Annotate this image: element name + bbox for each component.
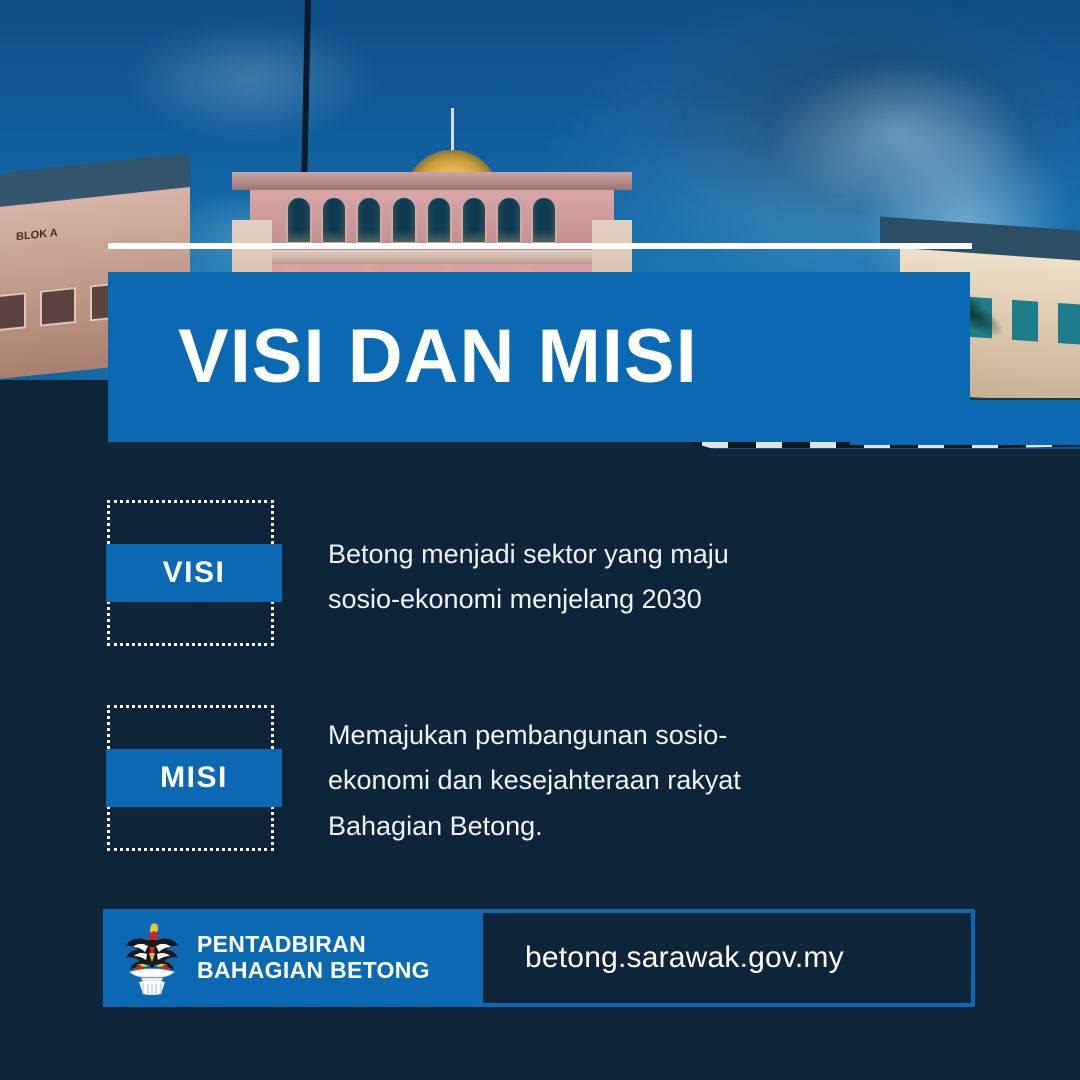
misi-text: Memajukan pembangunan sosio- ekonomi dan… (328, 713, 741, 849)
page-title: VISI DAN MISI (178, 319, 698, 395)
section-misi: MISI Memajukan pembangunan sosio- ekonom… (107, 705, 741, 851)
footer-organization-name: PENTADBIRAN BAHAGIAN BETONG (197, 932, 430, 984)
footer-brand: PENTADBIRAN BAHAGIAN BETONG (107, 913, 483, 1003)
sarawak-coat-of-arms-icon (121, 920, 183, 996)
background-photo: BLOK A (0, 0, 1080, 520)
arch-window (391, 196, 417, 244)
misi-tag-label: MISI (106, 749, 282, 807)
arch-window (531, 196, 557, 244)
window (0, 292, 26, 332)
facade-band (238, 250, 626, 264)
title-divider-rule (108, 243, 972, 249)
upper-arch-row (286, 196, 557, 244)
visi-tag-box: VISI (107, 500, 274, 646)
section-visi: VISI Betong menjadi sektor yang maju sos… (107, 500, 729, 646)
visi-tag-label: VISI (106, 544, 282, 602)
arch-window (426, 196, 452, 244)
arch-window (286, 196, 312, 244)
cloud (120, 20, 380, 140)
arch-window (496, 196, 522, 244)
roofline (232, 172, 632, 190)
window (1058, 303, 1080, 345)
misi-tag-box: MISI (107, 705, 274, 851)
left-building-label: BLOK A (16, 227, 58, 243)
footer-website-box[interactable]: betong.sarawak.gov.my (483, 913, 971, 1003)
arch-window (356, 196, 382, 244)
footer-bar: PENTADBIRAN BAHAGIAN BETONG betong.saraw… (103, 909, 975, 1007)
arch-window (461, 196, 487, 244)
visi-text: Betong menjadi sektor yang maju sosio-ek… (328, 532, 729, 623)
arch-window (321, 196, 347, 244)
title-banner: VISI DAN MISI (108, 272, 970, 442)
window (1012, 300, 1038, 342)
website-url[interactable]: betong.sarawak.gov.my (525, 941, 844, 975)
window (40, 287, 76, 327)
spire (451, 108, 454, 152)
